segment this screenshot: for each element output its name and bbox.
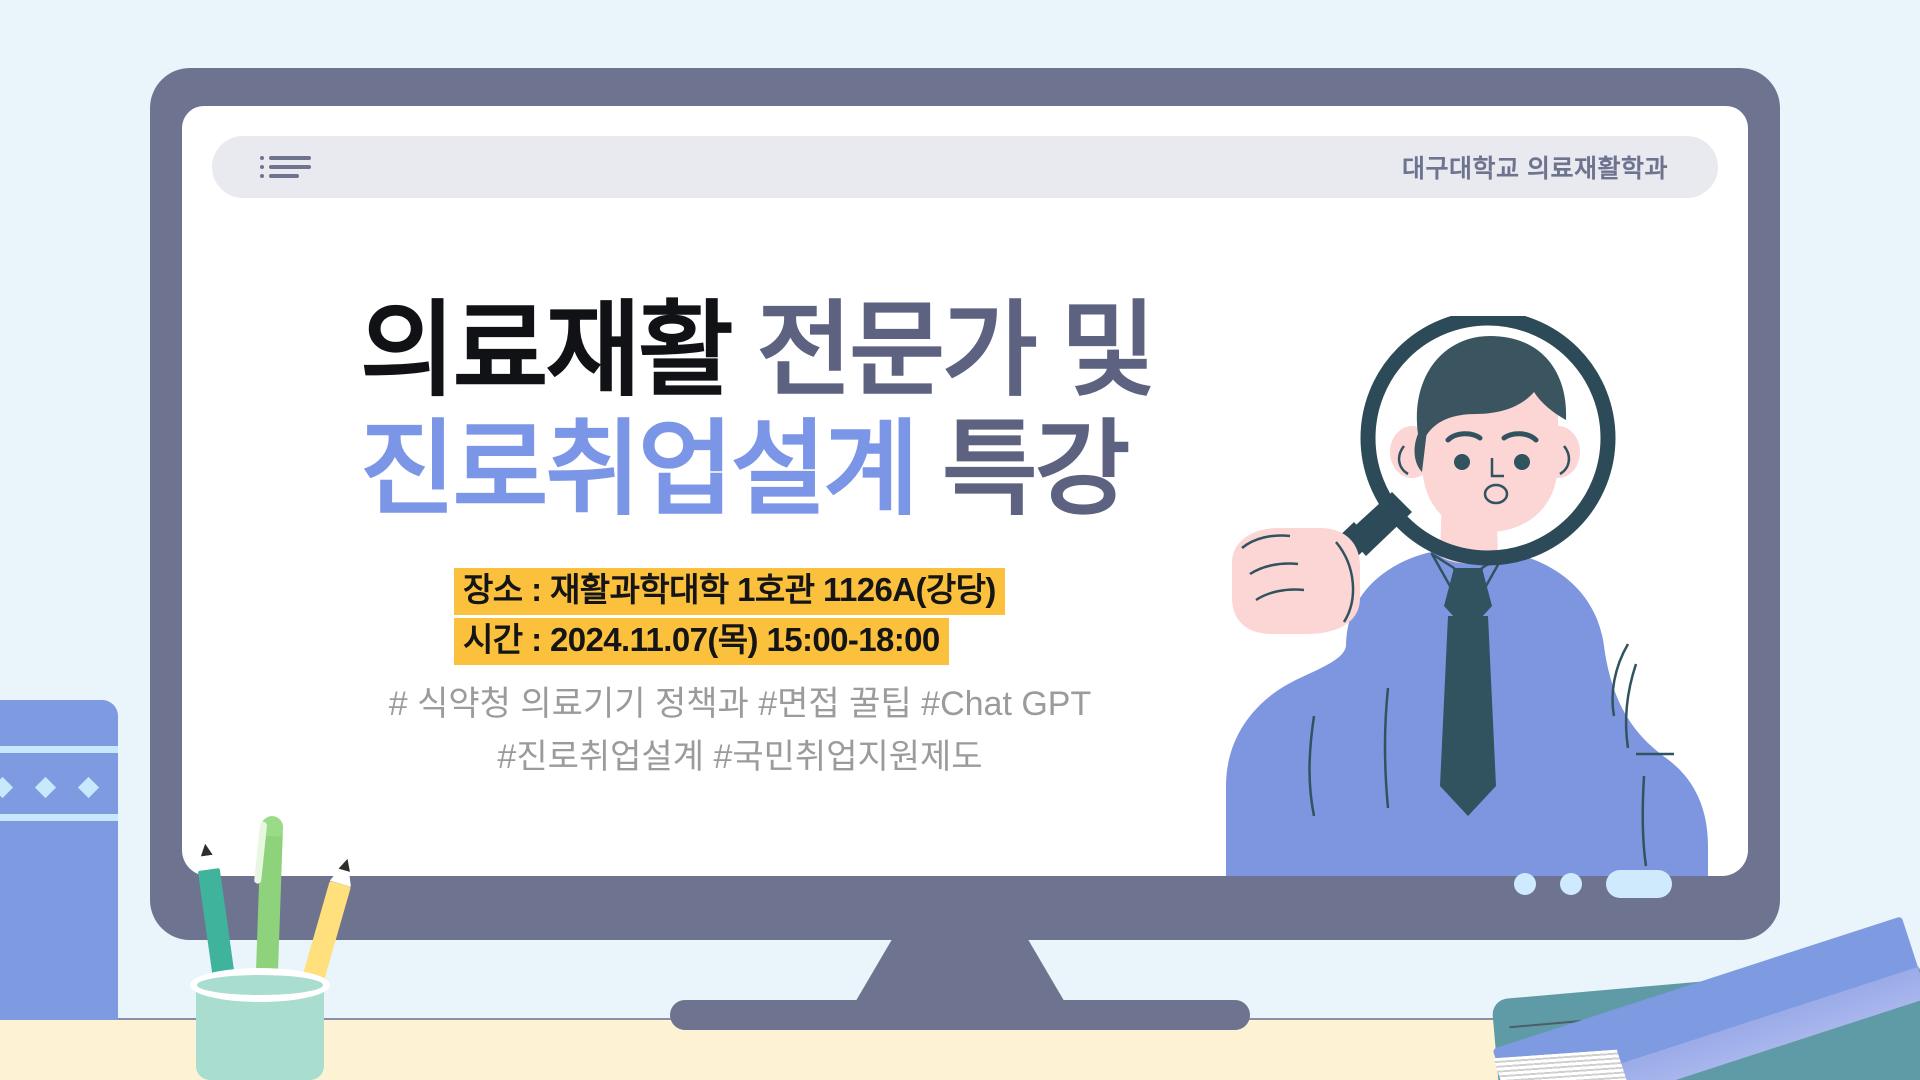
title-line-1: 의료재활 전문가 및 (360, 292, 1153, 411)
title-line-2-rest: 특강 (916, 412, 1127, 528)
fist (1232, 528, 1360, 634)
info-row-time: 시간 : 2024.11.07(목) 15:00-18:00 (454, 618, 1005, 665)
info-row-location: 장소 : 재활과학대학 1호관 1126A(강당) (454, 568, 1005, 615)
department-label: 대구대학교 의료재활학과 (1402, 149, 1668, 185)
pencil-cup-group (196, 852, 356, 1080)
poster-title: 의료재활 전문가 및 진로취업설계 특강 (360, 292, 1153, 529)
poster-header-bar: 대구대학교 의료재활학과 (212, 136, 1718, 198)
location-text: 장소 : 재활과학대학 1호관 1126A(강당) (454, 568, 1005, 615)
title-line-1-bold: 의료재활 (360, 293, 731, 409)
poster-content: 대구대학교 의료재활학과 의료재활 전문가 및 진로취업설계 특강 장소 : 재… (182, 106, 1748, 876)
man-with-magnifying-glass-illustration (1196, 316, 1748, 876)
list-icon[interactable] (260, 156, 311, 178)
monitor-stand-base (670, 1000, 1250, 1030)
poster-scene: 대구대학교 의료재활학과 의료재활 전문가 및 진로취업설계 특강 장소 : 재… (0, 0, 1920, 1080)
monitor-screen: 대구대학교 의료재활학과 의료재활 전문가 및 진로취업설계 특강 장소 : 재… (182, 106, 1748, 876)
monitor-bezel: 대구대학교 의료재활학과 의료재활 전문가 및 진로취업설계 특강 장소 : 재… (150, 68, 1780, 940)
time-text: 시간 : 2024.11.07(목) 15:00-18:00 (454, 618, 949, 665)
poster-info-block: 장소 : 재활과학대학 1호관 1126A(강당) 시간 : 2024.11.0… (454, 568, 1005, 668)
poster-hashtags: # 식약청 의료기기 정책과 #면접 꿀팁 #Chat GPT #진로취업설계 … (360, 678, 1120, 783)
book-pages (1493, 1050, 1636, 1080)
hashtag-line-2: #진로취업설계 #국민취업지원제도 (360, 731, 1120, 784)
pencil-cup-rim (190, 968, 330, 1002)
title-line-2-accent: 진로취업설계 (360, 412, 916, 528)
book-stripe (0, 814, 118, 821)
blue-standing-book (0, 700, 118, 1020)
title-line-2: 진로취업설계 특강 (360, 411, 1153, 530)
title-line-1-rest: 전문가 및 (731, 293, 1154, 409)
book-stripe (0, 746, 118, 753)
hashtag-line-1: # 식약청 의료기기 정책과 #면접 꿀팁 #Chat GPT (360, 678, 1120, 731)
book-stack (1460, 840, 1920, 1080)
book-diamond-pattern (0, 768, 118, 806)
